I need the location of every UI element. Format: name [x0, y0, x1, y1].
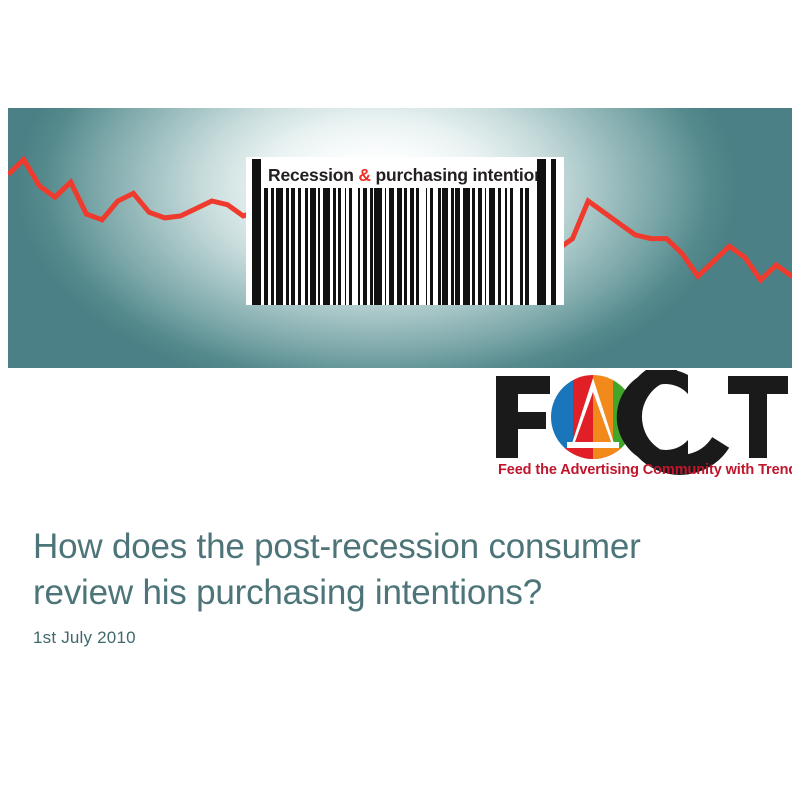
barcode-bar — [404, 188, 407, 305]
barcode-bar — [310, 188, 316, 305]
barcode-bar — [510, 188, 513, 305]
barcode-bar — [430, 188, 433, 305]
barcode-bar — [410, 188, 414, 305]
barcode-bar — [389, 188, 393, 305]
barcode-bar — [345, 188, 346, 305]
barcode-bar — [489, 188, 495, 305]
barcode-bar — [298, 188, 301, 305]
banner-image: Recession & purchasing intention — [8, 108, 792, 368]
barcode-bar — [358, 188, 359, 305]
barcode-bar — [472, 188, 475, 305]
page-title-line-2: review his purchasing intentions? — [33, 570, 763, 616]
barcode-bar — [478, 188, 482, 305]
barcode-bar — [338, 188, 341, 305]
barcode-bar — [286, 188, 289, 305]
barcode-bar — [374, 188, 381, 305]
barcode-graphic: Recession & purchasing intention — [246, 157, 564, 305]
barcode-bar — [455, 188, 459, 305]
page-title: How does the post-recession consumer rev… — [33, 524, 763, 616]
barcode-bar — [505, 188, 506, 305]
barcode-bar — [485, 188, 486, 305]
barcode-bar — [438, 188, 441, 305]
barcode-bar — [349, 188, 352, 305]
barcode-bar — [305, 188, 308, 305]
letter-a-base-right — [593, 448, 624, 459]
page-date: 1st July 2010 — [33, 628, 136, 648]
barcode-bar — [264, 188, 268, 305]
slide-canvas: Recession & purchasing intention — [0, 0, 800, 800]
barcode-bar — [363, 188, 367, 305]
barcode-bar — [333, 188, 336, 305]
barcode-bar — [291, 188, 295, 305]
barcode-bar — [323, 188, 330, 305]
logo-letter-f — [496, 376, 550, 458]
barcode-bar — [463, 188, 470, 305]
letter-a-crossbar-gap — [567, 442, 619, 448]
barcode-bar — [520, 188, 523, 305]
barcode-bar — [370, 188, 373, 305]
barcode-title: Recession & purchasing intention — [268, 163, 542, 188]
barcode-title-ampersand: & — [358, 165, 370, 185]
barcode-bar — [442, 188, 448, 305]
barcode-bar — [416, 188, 419, 305]
fact-logo-graphic: Feed the Advertising Community with Tren… — [492, 370, 792, 480]
barcode-bar — [318, 188, 319, 305]
barcode-bar — [525, 188, 529, 305]
page-title-line-1: How does the post-recession consumer — [33, 524, 763, 570]
fact-logo: Feed the Advertising Community with Tren… — [492, 370, 792, 480]
barcode-bar — [271, 188, 274, 305]
logo-letter-t — [728, 376, 788, 458]
barcode-bar — [276, 188, 283, 305]
barcode-bar-group — [246, 188, 564, 305]
barcode-bar — [498, 188, 501, 305]
barcode-bar — [385, 188, 386, 305]
barcode-title-prefix: Recession — [268, 165, 358, 185]
barcode-bar — [397, 188, 403, 305]
barcode-bar — [426, 188, 427, 305]
barcode-bar — [451, 188, 454, 305]
barcode-title-suffix: purchasing intention — [371, 165, 545, 185]
logo-tagline: Feed the Advertising Community with Tren… — [498, 462, 792, 478]
